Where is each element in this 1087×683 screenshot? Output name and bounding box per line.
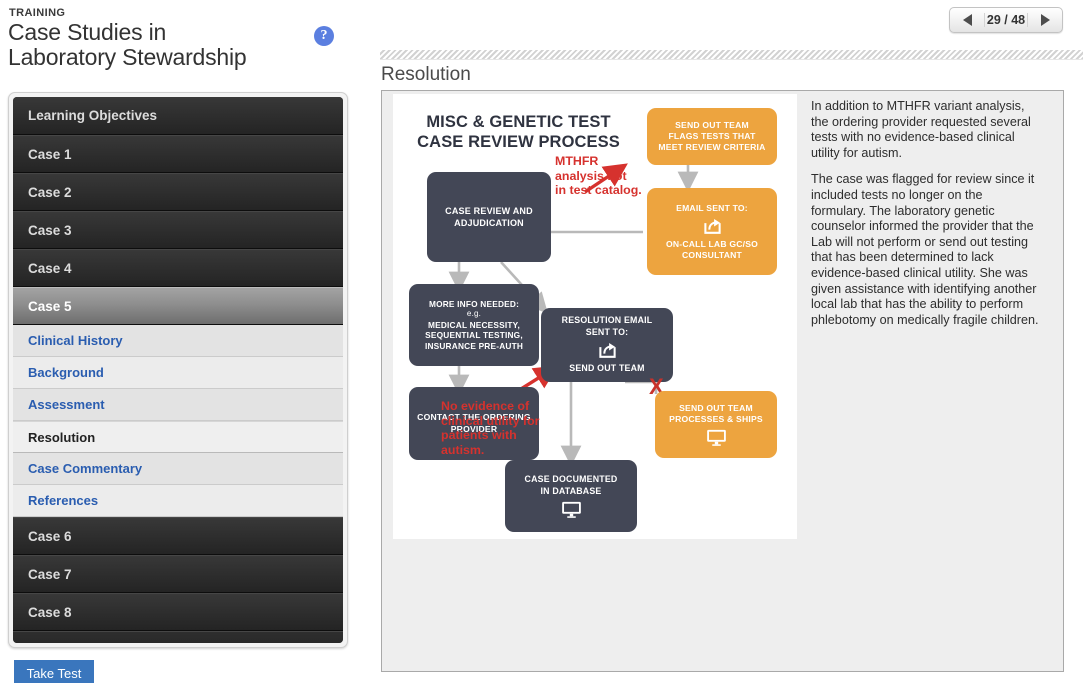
node-case-documented: CASE DOCUMENTED IN DATABASE bbox=[505, 460, 637, 532]
sidebar-item-label: Case 8 bbox=[28, 605, 72, 620]
page-title-line2: Laboratory Stewardship bbox=[8, 44, 247, 70]
share-arrow-icon bbox=[703, 217, 722, 236]
page-title: Case Studies in Laboratory Stewardship bbox=[8, 20, 308, 70]
node-flag-line2: FLAGS TESTS THAT bbox=[668, 131, 755, 142]
page-title-line1: Case Studies in bbox=[8, 19, 166, 45]
annotation-no-evidence-line1: No evidence of bbox=[441, 399, 529, 413]
sidebar-item-label: Resolution bbox=[28, 430, 95, 445]
node-case-review-line1: CASE REVIEW AND bbox=[445, 205, 533, 217]
eyebrow-label: TRAINING bbox=[9, 7, 65, 19]
sidebar-subitem-clinical-history[interactable]: Clinical History bbox=[13, 325, 343, 357]
help-icon[interactable]: ? bbox=[314, 26, 334, 46]
node-more-info-line1: MORE INFO NEEDED: bbox=[429, 299, 519, 310]
sidebar-item-case-8[interactable]: Case 8 bbox=[13, 593, 343, 631]
previous-arrow-icon bbox=[963, 14, 972, 26]
training-page: TRAINING Case Studies in Laboratory Stew… bbox=[0, 0, 1087, 683]
content-panel: MISC & GENETIC TEST CASE REVIEW PROCESS … bbox=[381, 90, 1064, 672]
sidebar-item-label: Case 6 bbox=[28, 529, 72, 544]
annotation-no-evidence-line2: clinical utility for bbox=[441, 414, 539, 428]
monitor-icon bbox=[561, 501, 582, 518]
sidebar-item-label: Case 5 bbox=[28, 299, 72, 314]
node-flag-line1: SEND OUT TEAM bbox=[675, 120, 749, 131]
pagination-control: 29 / 48 bbox=[949, 7, 1063, 33]
node-email-line2: ON-CALL LAB GC/SO bbox=[666, 239, 758, 250]
sidebar-subitem-background[interactable]: Background bbox=[13, 357, 343, 389]
sidebar-item-case-7[interactable]: Case 7 bbox=[13, 555, 343, 593]
node-more-info-line2: e.g. bbox=[467, 309, 481, 320]
content-inner: MISC & GENETIC TEST CASE REVIEW PROCESS … bbox=[393, 94, 1053, 541]
annotation-no-evidence: No evidence of clinical utility for pati… bbox=[441, 399, 546, 457]
sidebar-subitem-case-commentary[interactable]: Case Commentary bbox=[13, 453, 343, 485]
share-arrow-icon bbox=[598, 341, 617, 360]
sidebar-subitem-references[interactable]: References bbox=[13, 485, 343, 517]
node-email-line1: EMAIL SENT TO: bbox=[676, 203, 748, 214]
take-test-button[interactable]: Take Test bbox=[14, 660, 94, 683]
case-review-process-diagram: MISC & GENETIC TEST CASE REVIEW PROCESS … bbox=[393, 94, 797, 539]
node-more-info-line3: MEDICAL NECESSITY, bbox=[428, 320, 520, 331]
sidebar-filler bbox=[13, 631, 343, 643]
node-resolution-email: RESOLUTION EMAIL SENT TO: SEND OUT TEAM bbox=[541, 308, 673, 382]
sidebar-item-label: Case 1 bbox=[28, 147, 72, 162]
diagram-title-line1: MISC & GENETIC TEST bbox=[426, 113, 610, 131]
sidebar-item-label: Clinical History bbox=[28, 333, 123, 348]
sidebar-item-case-3[interactable]: Case 3 bbox=[13, 211, 343, 249]
annotation-no-evidence-line3: patients with bbox=[441, 428, 517, 442]
sidebar-item-case-2[interactable]: Case 2 bbox=[13, 173, 343, 211]
resolution-paragraph-1: In addition to MTHFR variant analysis, t… bbox=[811, 99, 1039, 161]
section-title: Resolution bbox=[381, 64, 471, 86]
annotation-mthfr-line3: in test catalog. bbox=[555, 183, 642, 197]
sidebar-item-case-1[interactable]: Case 1 bbox=[13, 135, 343, 173]
resolution-text: In addition to MTHFR variant analysis, t… bbox=[797, 94, 1053, 541]
left-column: TRAINING Case Studies in Laboratory Stew… bbox=[0, 0, 370, 683]
diagram-title-line2: CASE REVIEW PROCESS bbox=[417, 133, 620, 151]
sidebar-item-label: Case Commentary bbox=[28, 461, 142, 476]
diagram-title: MISC & GENETIC TEST CASE REVIEW PROCESS bbox=[411, 112, 626, 152]
node-res-email-line1: RESOLUTION EMAIL bbox=[562, 315, 653, 327]
sidebar-item-label: Learning Objectives bbox=[28, 108, 157, 123]
sidebar-item-label: Case 7 bbox=[28, 567, 72, 582]
sidebar-item-label: Case 2 bbox=[28, 185, 72, 200]
node-processes-ships: SEND OUT TEAM PROCESSES & SHIPS bbox=[655, 391, 777, 458]
sidebar-item-learning-objectives[interactable]: Learning Objectives bbox=[13, 97, 343, 135]
sidebar-subitem-resolution[interactable]: Resolution bbox=[13, 421, 343, 453]
node-documented-line1: CASE DOCUMENTED bbox=[525, 474, 618, 486]
sidebar-item-case-4[interactable]: Case 4 bbox=[13, 249, 343, 287]
sidebar-item-case-6[interactable]: Case 6 bbox=[13, 517, 343, 555]
next-page-button[interactable] bbox=[1028, 8, 1062, 32]
annotation-mthfr-line1: MTHFR bbox=[555, 154, 598, 168]
node-case-review-line2: ADJUDICATION bbox=[454, 217, 524, 229]
monitor-icon bbox=[706, 429, 727, 446]
sidebar-item-label: Case 4 bbox=[28, 261, 72, 276]
resolution-paragraph-2: The case was flagged for review since it… bbox=[811, 172, 1039, 328]
node-ships-line2: PROCESSES & SHIPS bbox=[669, 414, 763, 425]
node-more-info-line4: SEQUENTIAL TESTING, bbox=[425, 330, 523, 341]
next-arrow-icon bbox=[1041, 14, 1050, 26]
node-flag-line3: MEET REVIEW CRITERIA bbox=[658, 142, 765, 153]
sidebar-item-label: References bbox=[28, 493, 98, 508]
annotation-mthfr: MTHFR analysis not in test catalog. bbox=[555, 154, 645, 198]
annotation-no-evidence-line4: autism. bbox=[441, 443, 484, 457]
annotation-mthfr-line2: analysis not bbox=[555, 169, 627, 183]
section-divider bbox=[380, 50, 1083, 60]
sidebar-item-label: Background bbox=[28, 365, 104, 380]
node-more-info-line5: INSURANCE PRE-AUTH bbox=[425, 341, 523, 352]
node-ships-line1: SEND OUT TEAM bbox=[679, 403, 753, 414]
sidebar-item-label: Case 3 bbox=[28, 223, 72, 238]
course-navigation: Learning ObjectivesCase 1Case 2Case 3Cas… bbox=[8, 92, 348, 648]
sidebar-item-label: Assessment bbox=[28, 397, 105, 412]
node-more-info-needed: MORE INFO NEEDED: e.g. MEDICAL NECESSITY… bbox=[409, 284, 539, 366]
node-case-review-adjudication: CASE REVIEW AND ADJUDICATION bbox=[427, 172, 551, 262]
node-email-sent-to: EMAIL SENT TO: ON-CALL LAB GC/SO CONSULT… bbox=[647, 188, 777, 275]
node-email-line3: CONSULTANT bbox=[682, 250, 742, 261]
node-documented-line2: IN DATABASE bbox=[540, 486, 601, 498]
page-counter: 29 / 48 bbox=[984, 13, 1028, 27]
node-res-email-line2: SENT TO: bbox=[586, 327, 629, 339]
sidebar-subitem-assessment[interactable]: Assessment bbox=[13, 389, 343, 421]
node-res-email-line3: SEND OUT TEAM bbox=[569, 363, 644, 375]
previous-page-button[interactable] bbox=[950, 8, 984, 32]
node-send-out-team-flags: SEND OUT TEAM FLAGS TESTS THAT MEET REVI… bbox=[647, 108, 777, 165]
course-navigation-list: Learning ObjectivesCase 1Case 2Case 3Cas… bbox=[13, 97, 343, 643]
sidebar-item-case-5[interactable]: Case 5 bbox=[13, 287, 343, 325]
